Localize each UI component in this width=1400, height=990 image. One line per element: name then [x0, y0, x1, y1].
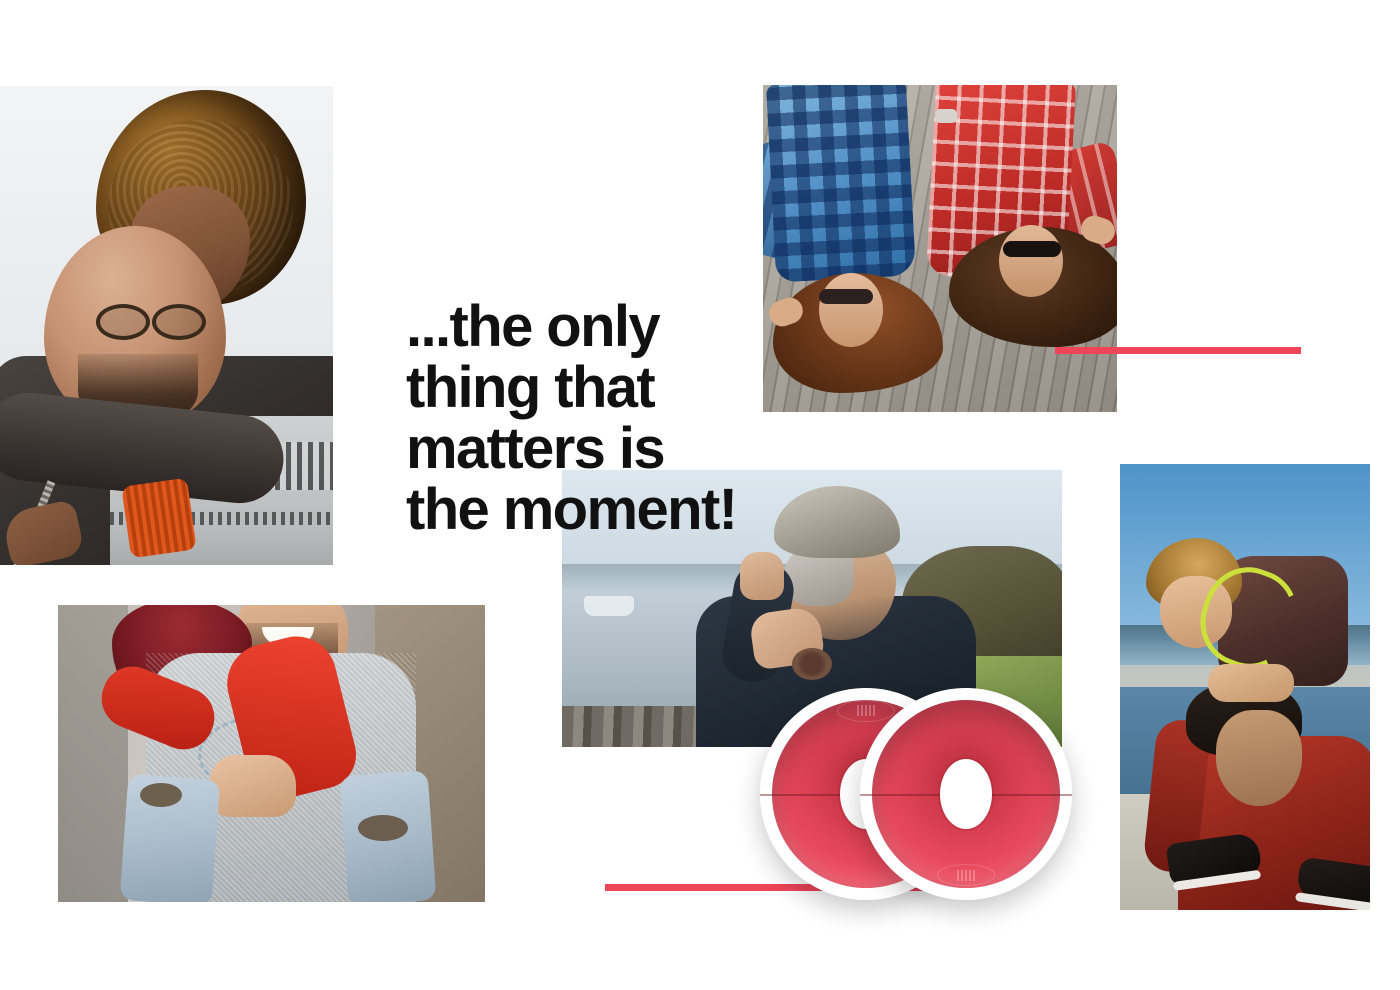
woman-b-face — [999, 225, 1063, 297]
sound-wave-icon — [957, 870, 975, 881]
hand — [740, 552, 784, 600]
boat — [584, 596, 634, 616]
eyeglasses-icon — [96, 304, 212, 334]
sunglasses-icon — [819, 289, 873, 304]
headline-text: ...the only thing that matters is the mo… — [406, 296, 766, 540]
child-shoe-right — [1296, 856, 1370, 907]
photo-piggyback — [58, 605, 485, 902]
photo-deck-friends — [763, 85, 1117, 412]
jeans-rip — [140, 783, 182, 807]
father-face — [1216, 710, 1302, 806]
product-donut-speakers — [760, 688, 1072, 900]
blue-plaid-shirt — [766, 85, 916, 283]
orange-cuff — [121, 478, 196, 558]
woman-a-face — [819, 273, 883, 347]
accent-rule-top — [1055, 347, 1301, 354]
donut-speaker-right — [860, 688, 1072, 900]
moodboard-canvas: ...the only thing that matters is the mo… — [0, 0, 1400, 990]
wristwatch — [792, 648, 832, 680]
photo-father-child — [1120, 464, 1370, 910]
clasped-hands — [210, 755, 296, 817]
jeans-rip — [358, 815, 408, 841]
sunglasses-icon — [1003, 241, 1061, 257]
child-hands — [1208, 664, 1294, 702]
wristwatch — [935, 109, 957, 123]
sound-wave-icon — [857, 705, 875, 716]
photo-couple-hug — [0, 86, 333, 565]
center-hole — [940, 759, 992, 829]
